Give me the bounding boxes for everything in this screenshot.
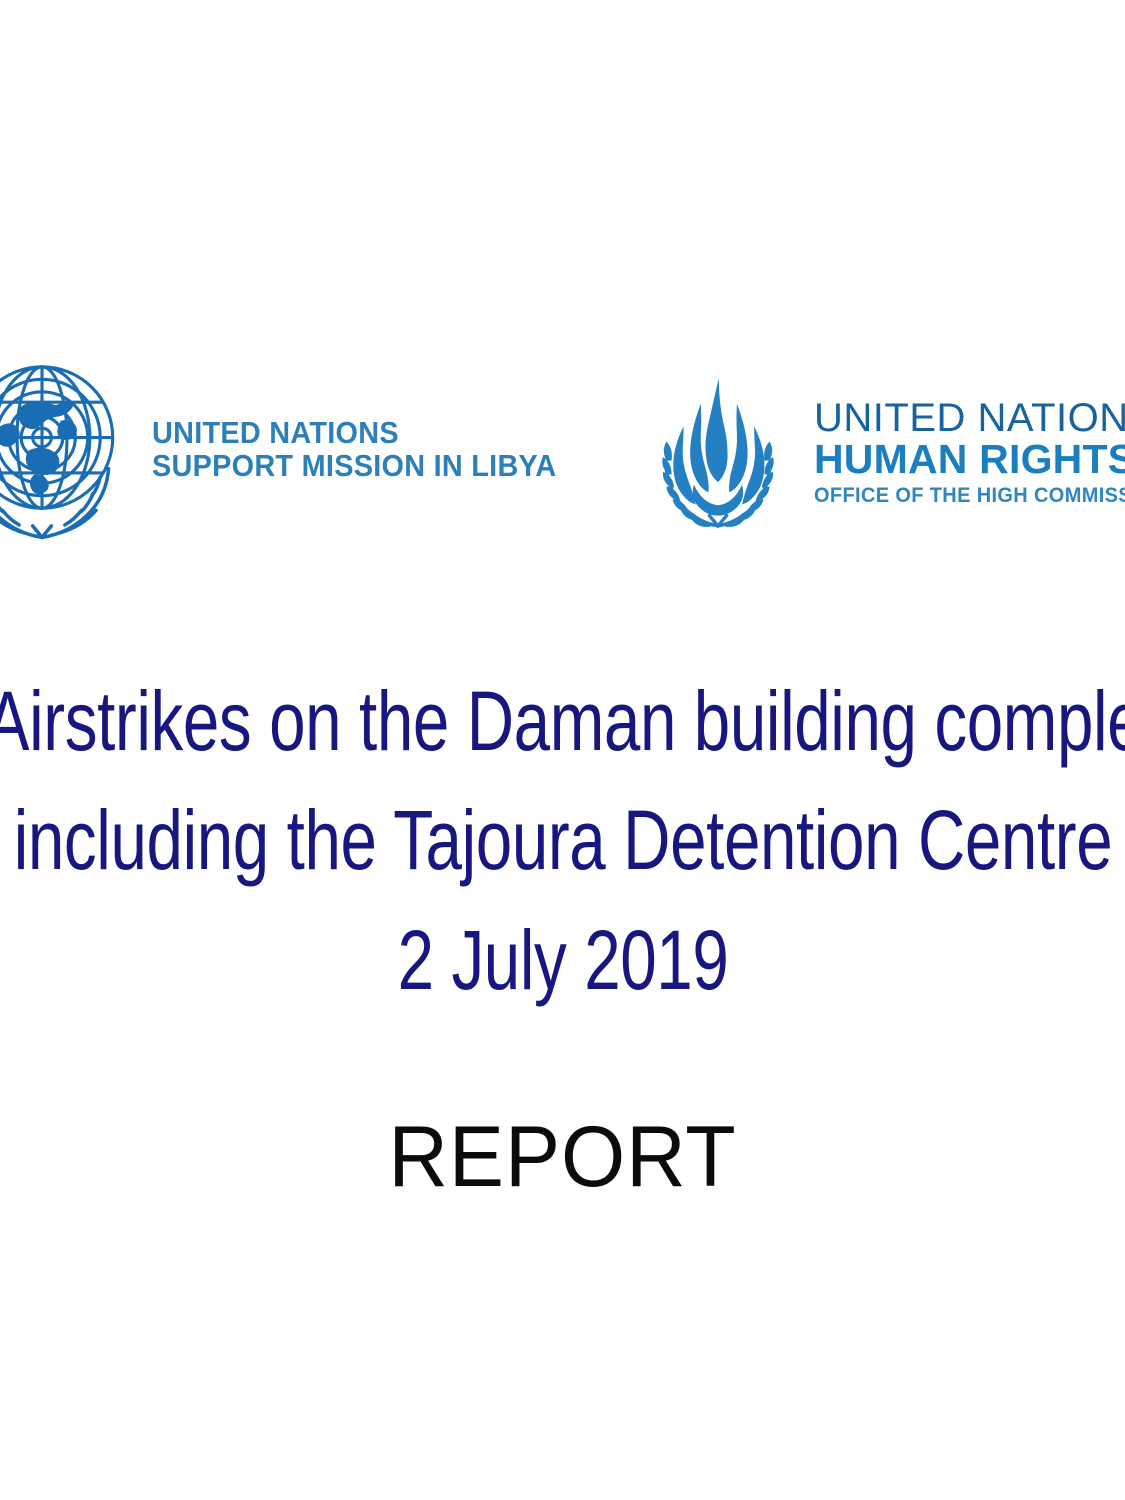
document-title: Airstrikes on the Daman building complex… [0, 662, 1125, 1020]
logo-band: UNITED NATIONS SUPPORT MISSION IN LIBYA [0, 330, 1125, 565]
document-title-date: 2 July 2019 [0, 901, 1125, 1020]
un-globe-laurel-emblem [0, 346, 146, 554]
ohchr-logo: UNITED NATIONS HUMAN RIGHTS OFFICE OF TH… [632, 364, 1125, 539]
ohchr-wordmark: UNITED NATIONS HUMAN RIGHTS OFFICE OF TH… [814, 398, 1125, 506]
document-title-line-2: including the Tajoura Detention Centre [0, 781, 1125, 900]
unsmil-wordmark-line-1: UNITED NATIONS [152, 417, 557, 449]
report-label: REPORT [23, 1108, 1103, 1207]
unsmil-wordmark-line-2: SUPPORT MISSION IN LIBYA [152, 450, 557, 482]
ohchr-wordmark-line-2: HUMAN RIGHTS [814, 439, 1125, 480]
document-title-line-1: Airstrikes on the Daman building complex… [0, 662, 1125, 781]
ohchr-wordmark-line-1: UNITED NATIONS [814, 398, 1125, 438]
unsmil-wordmark: UNITED NATIONS SUPPORT MISSION IN LIBYA [152, 417, 587, 481]
ohchr-wordmark-line-3: OFFICE OF THE HIGH COMMISSIONE [814, 485, 1125, 506]
unsmil-logo: UNITED NATIONS SUPPORT MISSION IN LIBYA [0, 342, 498, 557]
ohchr-flame-laurel-emblem [632, 366, 804, 538]
report-cover-page: UNITED NATIONS SUPPORT MISSION IN LIBYA [0, 0, 1125, 1500]
